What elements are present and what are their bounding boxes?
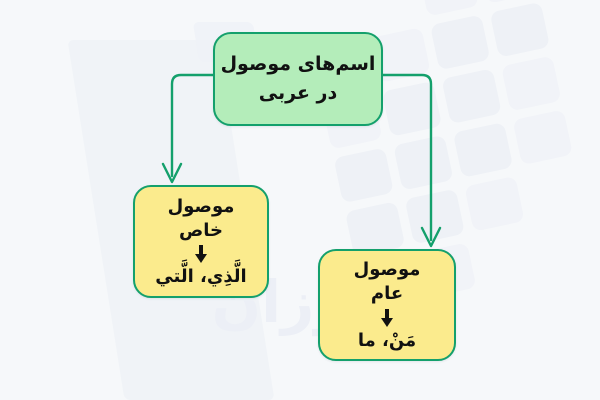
node-general-title-line2: عام [354,282,421,306]
node-root-line2: در عربی [259,79,337,108]
node-specific-examples: الَّذِي، الَّتي [155,265,246,288]
node-general-title: موصول عام [354,258,421,307]
node-specific[interactable]: موصول خاص الَّذِي، الَّتي [133,185,269,298]
node-general-title-line1: موصول [354,258,421,282]
connector-root-to-specific [163,75,213,182]
node-root[interactable]: اسم‌های موصول در عربی [213,32,383,126]
watermark-text: فرزان [0,268,600,336]
down-arrow-icon [194,244,208,264]
node-specific-title-line1: موصول [168,195,235,219]
node-general-examples: مَنْ، ما [358,329,416,352]
node-specific-title: موصول خاص [168,195,235,244]
node-general[interactable]: موصول عام مَنْ، ما [318,249,456,361]
down-arrow-icon [380,308,394,328]
node-specific-title-line2: خاص [168,219,235,243]
connector-root-to-general [383,75,440,246]
node-root-line1: اسم‌های موصول [221,50,376,79]
diagram-canvas: فرزان اسم‌های موصول در عربی موصول خاص ال… [0,0,600,400]
